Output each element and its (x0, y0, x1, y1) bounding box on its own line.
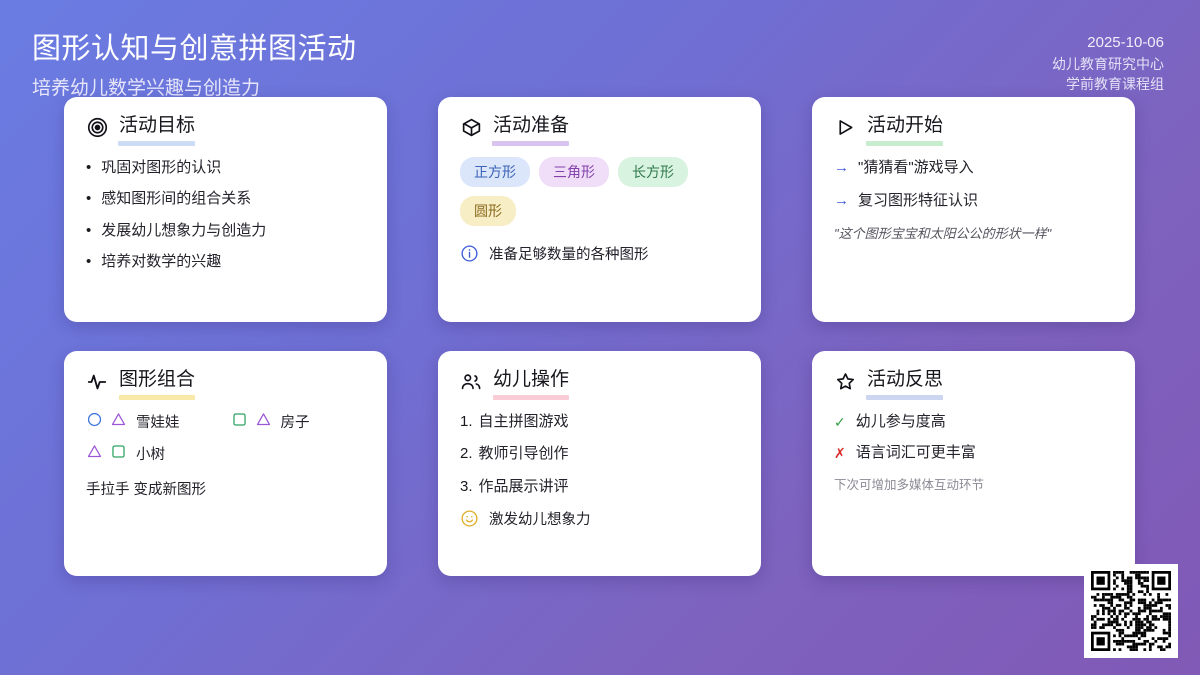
card-header: 活动目标 (86, 115, 365, 141)
triangle-shape-icon (110, 411, 127, 432)
list-item: →复习图形特征认识 (834, 190, 1113, 213)
title-underline (492, 141, 569, 146)
list-item-label: 作品展示讲评 (479, 476, 569, 499)
list-item: 3.作品展示讲评 (460, 476, 739, 499)
header-date: 2025-10-06 (1052, 32, 1164, 54)
note-label: 激发幼儿想象力 (489, 508, 591, 529)
combination-footer: 手拉手 变成新图形 (86, 478, 365, 499)
card-title: 活动反思 (867, 369, 943, 395)
combination-grid: 雪娃娃 房子 小树 (86, 411, 365, 464)
start-quote: "这个图形宝宝和太阳公公的形状一样" (834, 224, 1113, 244)
list-item-label: 教师引导创作 (479, 443, 569, 466)
list-item-label: "猜猜看"游戏导入 (858, 157, 974, 180)
smiley-icon (460, 509, 479, 528)
title-underline (866, 141, 943, 146)
list-item: 2.教师引导创作 (460, 443, 739, 466)
card-title: 活动开始 (867, 115, 943, 141)
list-item: ✗语言词汇可更丰富 (834, 442, 1113, 465)
objectives-list: •巩固对图形的认识 •感知图形间的组合关系 •发展幼儿想象力与创造力 •培养对数… (86, 157, 365, 274)
card-reflection[interactable]: 活动反思 ✓幼儿参与度高 ✗语言词汇可更丰富 下次可增加多媒体互动环节 (812, 351, 1135, 576)
qr-code-canvas (1091, 571, 1171, 651)
card-header: 活动开始 (834, 115, 1113, 141)
shape-tag-row: 正方形 三角形 长方形 圆形 (460, 157, 739, 226)
card-preparation[interactable]: 活动准备 正方形 三角形 长方形 圆形 准备足够数量的各种图形 (438, 97, 761, 322)
triangle-shape-icon (86, 443, 103, 464)
title-underline (119, 395, 195, 400)
combo-label: 房子 (281, 411, 310, 432)
combo-item: 房子 (231, 411, 366, 432)
slide-header: 图形认知与创意拼图活动 培养幼儿数学兴趣与创造力 2025-10-06 幼儿教育… (0, 0, 1200, 110)
title-underline (118, 141, 195, 146)
list-number: 2. (460, 443, 473, 466)
list-item-label: 复习图形特征认识 (858, 190, 978, 213)
card-title: 图形组合 (119, 369, 195, 395)
title-underline (866, 395, 943, 400)
qr-code[interactable] (1084, 564, 1178, 658)
list-item: 1.自主拼图游戏 (460, 411, 739, 434)
header-organization: 幼儿教育研究中心 (1052, 54, 1164, 74)
list-item: •发展幼儿想象力与创造力 (86, 220, 365, 243)
reflection-note: 下次可增加多媒体互动环节 (834, 474, 1113, 493)
list-item-label: 培养对数学的兴趣 (101, 251, 221, 274)
card-header: 活动准备 (460, 115, 739, 141)
card-grid: 活动目标 •巩固对图形的认识 •感知图形间的组合关系 •发展幼儿想象力与创造力 … (64, 97, 1136, 576)
list-item: →"猜猜看"游戏导入 (834, 157, 1113, 180)
triangle-shape-icon (255, 411, 272, 432)
card-title: 活动准备 (493, 115, 569, 141)
info-icon (460, 244, 479, 263)
header-meta-block: 2025-10-06 幼儿教育研究中心 学前教育课程组 (1052, 32, 1164, 94)
play-icon (834, 117, 856, 139)
cross-icon: ✗ (834, 443, 846, 464)
check-icon: ✓ (834, 412, 846, 433)
page-title: 图形认知与创意拼图活动 (32, 30, 357, 69)
card-objectives[interactable]: 活动目标 •巩固对图形的认识 •感知图形间的组合关系 •发展幼儿想象力与创造力 … (64, 97, 387, 322)
combo-item: 小树 (86, 443, 221, 464)
arrow-right-icon: → (834, 157, 849, 180)
box-icon (460, 117, 482, 139)
card-activity-start[interactable]: 活动开始 →"猜猜看"游戏导入 →复习图形特征认识 "这个图形宝宝和太阳公公的形… (812, 97, 1135, 322)
list-item: ✓幼儿参与度高 (834, 411, 1113, 434)
bullet-icon: • (86, 220, 91, 243)
combo-grid-spacer (231, 443, 366, 464)
list-item: •巩固对图形的认识 (86, 157, 365, 180)
header-team: 学前教育课程组 (1052, 74, 1164, 94)
tag-triangle-shape[interactable]: 三角形 (539, 157, 609, 187)
list-item-label: 巩固对图形的认识 (101, 157, 221, 180)
tag-square-shape[interactable]: 正方形 (460, 157, 530, 187)
tag-circle-shape[interactable]: 圆形 (460, 196, 516, 226)
children-steps-list: 1.自主拼图游戏 2.教师引导创作 3.作品展示讲评 (460, 411, 739, 499)
card-title: 活动目标 (119, 115, 195, 141)
card-shape-combination[interactable]: 图形组合 雪娃娃 房子 (64, 351, 387, 576)
bullet-icon: • (86, 188, 91, 211)
children-activity-note: 激发幼儿想象力 (460, 508, 739, 529)
card-header: 活动反思 (834, 369, 1113, 395)
title-underline (493, 395, 569, 400)
card-title: 幼儿操作 (493, 369, 569, 395)
start-steps-list: →"猜猜看"游戏导入 →复习图形特征认识 (834, 157, 1113, 213)
list-item-label: 幼儿参与度高 (856, 411, 946, 434)
combo-label: 小树 (136, 443, 165, 464)
arrow-right-icon: → (834, 190, 849, 213)
square-shape-icon (231, 411, 248, 432)
card-children-activity[interactable]: 幼儿操作 1.自主拼图游戏 2.教师引导创作 3.作品展示讲评 激发幼儿想象力 (438, 351, 761, 576)
target-icon (86, 117, 108, 139)
list-item-label: 感知图形间的组合关系 (101, 188, 251, 211)
bullet-icon: • (86, 251, 91, 274)
header-left-block: 图形认知与创意拼图活动 培养幼儿数学兴趣与创造力 (32, 30, 357, 100)
list-item-label: 自主拼图游戏 (479, 411, 569, 434)
list-number: 3. (460, 476, 473, 499)
list-number: 1. (460, 411, 473, 434)
circle-shape-icon (86, 411, 103, 432)
star-icon (834, 371, 856, 393)
list-item-label: 发展幼儿想象力与创造力 (101, 220, 266, 243)
combo-item: 雪娃娃 (86, 411, 221, 432)
square-shape-icon (110, 443, 127, 464)
bullet-icon: • (86, 157, 91, 180)
activity-icon (86, 371, 108, 393)
list-item: •培养对数学的兴趣 (86, 251, 365, 274)
tag-rectangle-shape[interactable]: 长方形 (618, 157, 688, 187)
list-item-label: 语言词汇可更丰富 (856, 442, 976, 465)
card-header: 幼儿操作 (460, 369, 739, 395)
preparation-note: 准备足够数量的各种图形 (460, 243, 739, 264)
combo-label: 雪娃娃 (136, 411, 180, 432)
list-item: •感知图形间的组合关系 (86, 188, 365, 211)
note-label: 准备足够数量的各种图形 (489, 243, 649, 264)
users-icon (460, 371, 482, 393)
card-header: 图形组合 (86, 369, 365, 395)
reflection-list: ✓幼儿参与度高 ✗语言词汇可更丰富 (834, 411, 1113, 465)
